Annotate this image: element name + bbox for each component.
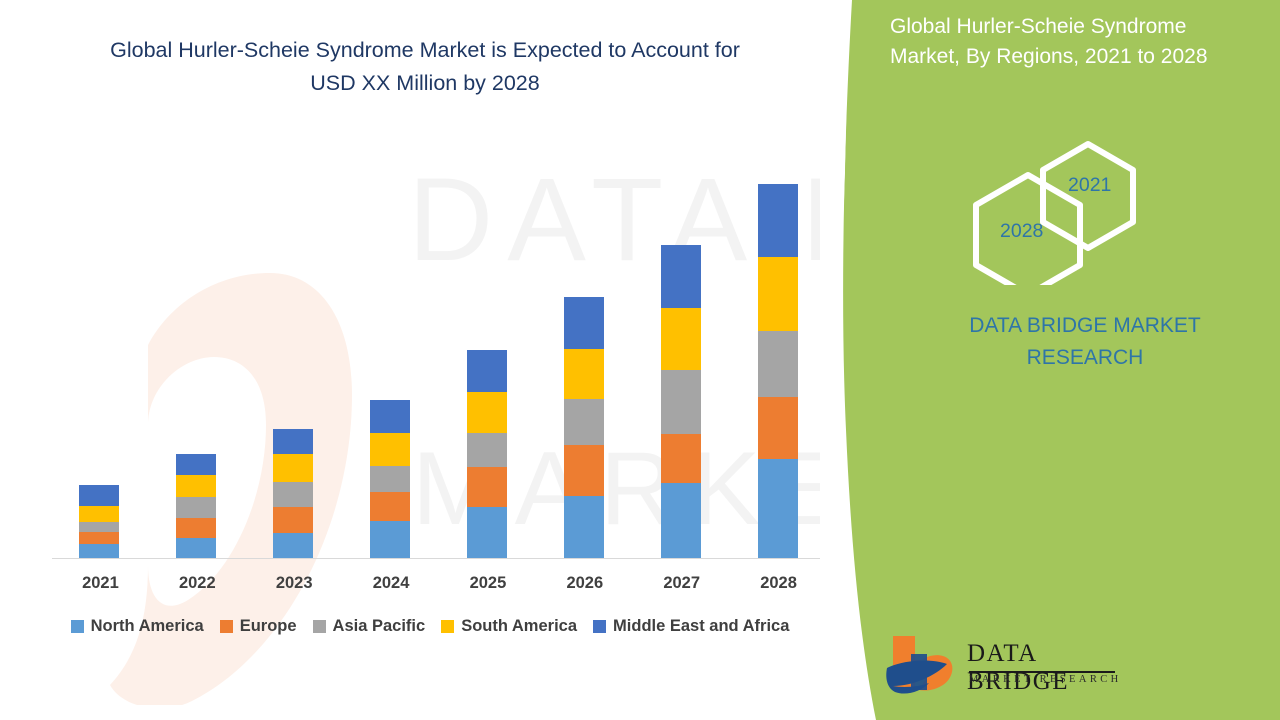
bar-2025 bbox=[467, 350, 507, 558]
bar-segment-north-america-2024 bbox=[370, 521, 410, 558]
x-axis-label-2024: 2024 bbox=[353, 574, 429, 593]
legend-swatch-icon bbox=[220, 620, 233, 633]
x-axis-tick-labels: 20212022202320242025202620272028 bbox=[52, 574, 827, 598]
x-axis-label-2023: 2023 bbox=[256, 574, 332, 593]
stacked-bar-chart-plot bbox=[52, 120, 827, 558]
bar-segment-asia-pacific-2028 bbox=[758, 331, 798, 398]
x-axis-label-2025: 2025 bbox=[450, 574, 526, 593]
x-axis-line bbox=[52, 558, 827, 559]
legend-item-north-america[interactable]: North America bbox=[71, 617, 204, 636]
logo-text-main: DATA BRIDGE bbox=[967, 640, 1135, 696]
page-title: Global Hurler-Scheie Syndrome Market is … bbox=[40, 34, 810, 100]
bar-segment-middle-east-and-africa-2025 bbox=[467, 350, 507, 391]
bar-2028 bbox=[758, 184, 798, 558]
brand-name-line1: DATA BRIDGE MARKET bbox=[969, 314, 1200, 337]
bar-segment-north-america-2023 bbox=[273, 533, 313, 558]
legend-swatch-icon bbox=[313, 620, 326, 633]
hexagon-front-label: 2021 bbox=[1068, 174, 1111, 197]
bar-2021 bbox=[79, 485, 119, 558]
page-title-line1: Global Hurler-Scheie Syndrome Market is … bbox=[110, 38, 740, 62]
bar-segment-middle-east-and-africa-2023 bbox=[273, 429, 313, 454]
x-axis-label-2026: 2026 bbox=[547, 574, 623, 593]
legend-label: Europe bbox=[240, 617, 297, 636]
bar-segment-south-america-2027 bbox=[661, 308, 701, 370]
chart-panel: Global Hurler-Scheie Syndrome Market is … bbox=[0, 0, 880, 720]
legend-item-south-america[interactable]: South America bbox=[441, 617, 577, 636]
bar-segment-middle-east-and-africa-2027 bbox=[661, 245, 701, 309]
brand-name: DATA BRIDGE MARKET RESEARCH bbox=[890, 310, 1280, 374]
branding-title-line2: Market, By Regions, 2021 to 2028 bbox=[890, 45, 1208, 68]
legend-label: Middle East and Africa bbox=[613, 617, 789, 636]
legend-label: Asia Pacific bbox=[333, 617, 426, 636]
bar-2027 bbox=[661, 245, 701, 558]
hexagon-outline-icon bbox=[970, 140, 1200, 285]
bar-segment-asia-pacific-2024 bbox=[370, 466, 410, 492]
page-title-line2: USD XX Million by 2028 bbox=[310, 71, 539, 95]
hexagon-back-label: 2028 bbox=[1000, 220, 1043, 243]
bar-segment-europe-2023 bbox=[273, 507, 313, 532]
bar-segment-asia-pacific-2023 bbox=[273, 482, 313, 507]
legend-swatch-icon bbox=[441, 620, 454, 633]
bar-segment-europe-2021 bbox=[79, 532, 119, 545]
bar-segment-middle-east-and-africa-2021 bbox=[79, 485, 119, 507]
bar-segment-asia-pacific-2022 bbox=[176, 497, 216, 518]
bar-2022 bbox=[176, 454, 216, 558]
bar-segment-south-america-2024 bbox=[370, 433, 410, 466]
data-bridge-mark-icon bbox=[885, 630, 963, 696]
branding-title: Global Hurler-Scheie Syndrome Market, By… bbox=[890, 12, 1270, 72]
bar-segment-south-america-2026 bbox=[564, 349, 604, 399]
branding-title-line1: Global Hurler-Scheie Syndrome bbox=[890, 15, 1186, 38]
bar-segment-asia-pacific-2025 bbox=[467, 433, 507, 467]
brand-name-line2: RESEARCH bbox=[1027, 346, 1144, 369]
bar-segment-south-america-2021 bbox=[79, 506, 119, 522]
bar-2024 bbox=[370, 400, 410, 558]
bar-segment-asia-pacific-2026 bbox=[564, 399, 604, 445]
legend-label: North America bbox=[91, 617, 204, 636]
x-axis-label-2028: 2028 bbox=[741, 574, 817, 593]
chart-legend: North AmericaEuropeAsia PacificSouth Ame… bbox=[0, 617, 860, 636]
legend-item-europe[interactable]: Europe bbox=[220, 617, 297, 636]
bar-segment-middle-east-and-africa-2026 bbox=[564, 297, 604, 350]
bar-segment-europe-2028 bbox=[758, 397, 798, 459]
logo-text-sub: MARKET RESEARCH bbox=[969, 674, 1122, 685]
bar-2023 bbox=[273, 429, 313, 558]
bar-segment-north-america-2026 bbox=[564, 496, 604, 558]
data-bridge-logo: DATA BRIDGE MARKET RESEARCH bbox=[885, 630, 1135, 702]
hexagon-badges: 2021 2028 bbox=[970, 140, 1200, 280]
bar-segment-europe-2022 bbox=[176, 518, 216, 539]
bar-segment-middle-east-and-africa-2022 bbox=[176, 454, 216, 475]
bar-segment-south-america-2028 bbox=[758, 257, 798, 330]
bar-segment-north-america-2021 bbox=[79, 544, 119, 558]
bar-segment-middle-east-and-africa-2028 bbox=[758, 184, 798, 257]
bar-segment-europe-2025 bbox=[467, 467, 507, 507]
bar-segment-asia-pacific-2027 bbox=[661, 370, 701, 434]
bar-segment-south-america-2025 bbox=[467, 392, 507, 433]
bar-segment-north-america-2025 bbox=[467, 507, 507, 558]
bar-segment-north-america-2027 bbox=[661, 483, 701, 558]
bar-segment-middle-east-and-africa-2024 bbox=[370, 400, 410, 432]
branding-panel-content: Global Hurler-Scheie Syndrome Market, By… bbox=[820, 0, 1280, 720]
bar-segment-south-america-2022 bbox=[176, 475, 216, 498]
slide-canvas: DATA BRIDGE MARKET RESEARCH Global Hurle… bbox=[0, 0, 1280, 720]
x-axis-label-2021: 2021 bbox=[62, 574, 138, 593]
bar-segment-north-america-2022 bbox=[176, 538, 216, 558]
logo-divider bbox=[969, 671, 1115, 673]
branding-panel: Global Hurler-Scheie Syndrome Market, By… bbox=[820, 0, 1280, 720]
bar-segment-north-america-2028 bbox=[758, 459, 798, 558]
x-axis-label-2022: 2022 bbox=[159, 574, 235, 593]
legend-swatch-icon bbox=[71, 620, 84, 633]
bar-segment-south-america-2023 bbox=[273, 454, 313, 481]
legend-item-middle-east-and-africa[interactable]: Middle East and Africa bbox=[593, 617, 789, 636]
legend-label: South America bbox=[461, 617, 577, 636]
bar-segment-asia-pacific-2021 bbox=[79, 522, 119, 532]
legend-swatch-icon bbox=[593, 620, 606, 633]
x-axis-label-2027: 2027 bbox=[644, 574, 720, 593]
bar-segment-europe-2026 bbox=[564, 445, 604, 496]
bar-segment-europe-2027 bbox=[661, 434, 701, 483]
bar-segment-europe-2024 bbox=[370, 492, 410, 520]
bar-2026 bbox=[564, 297, 604, 558]
legend-item-asia-pacific[interactable]: Asia Pacific bbox=[313, 617, 426, 636]
